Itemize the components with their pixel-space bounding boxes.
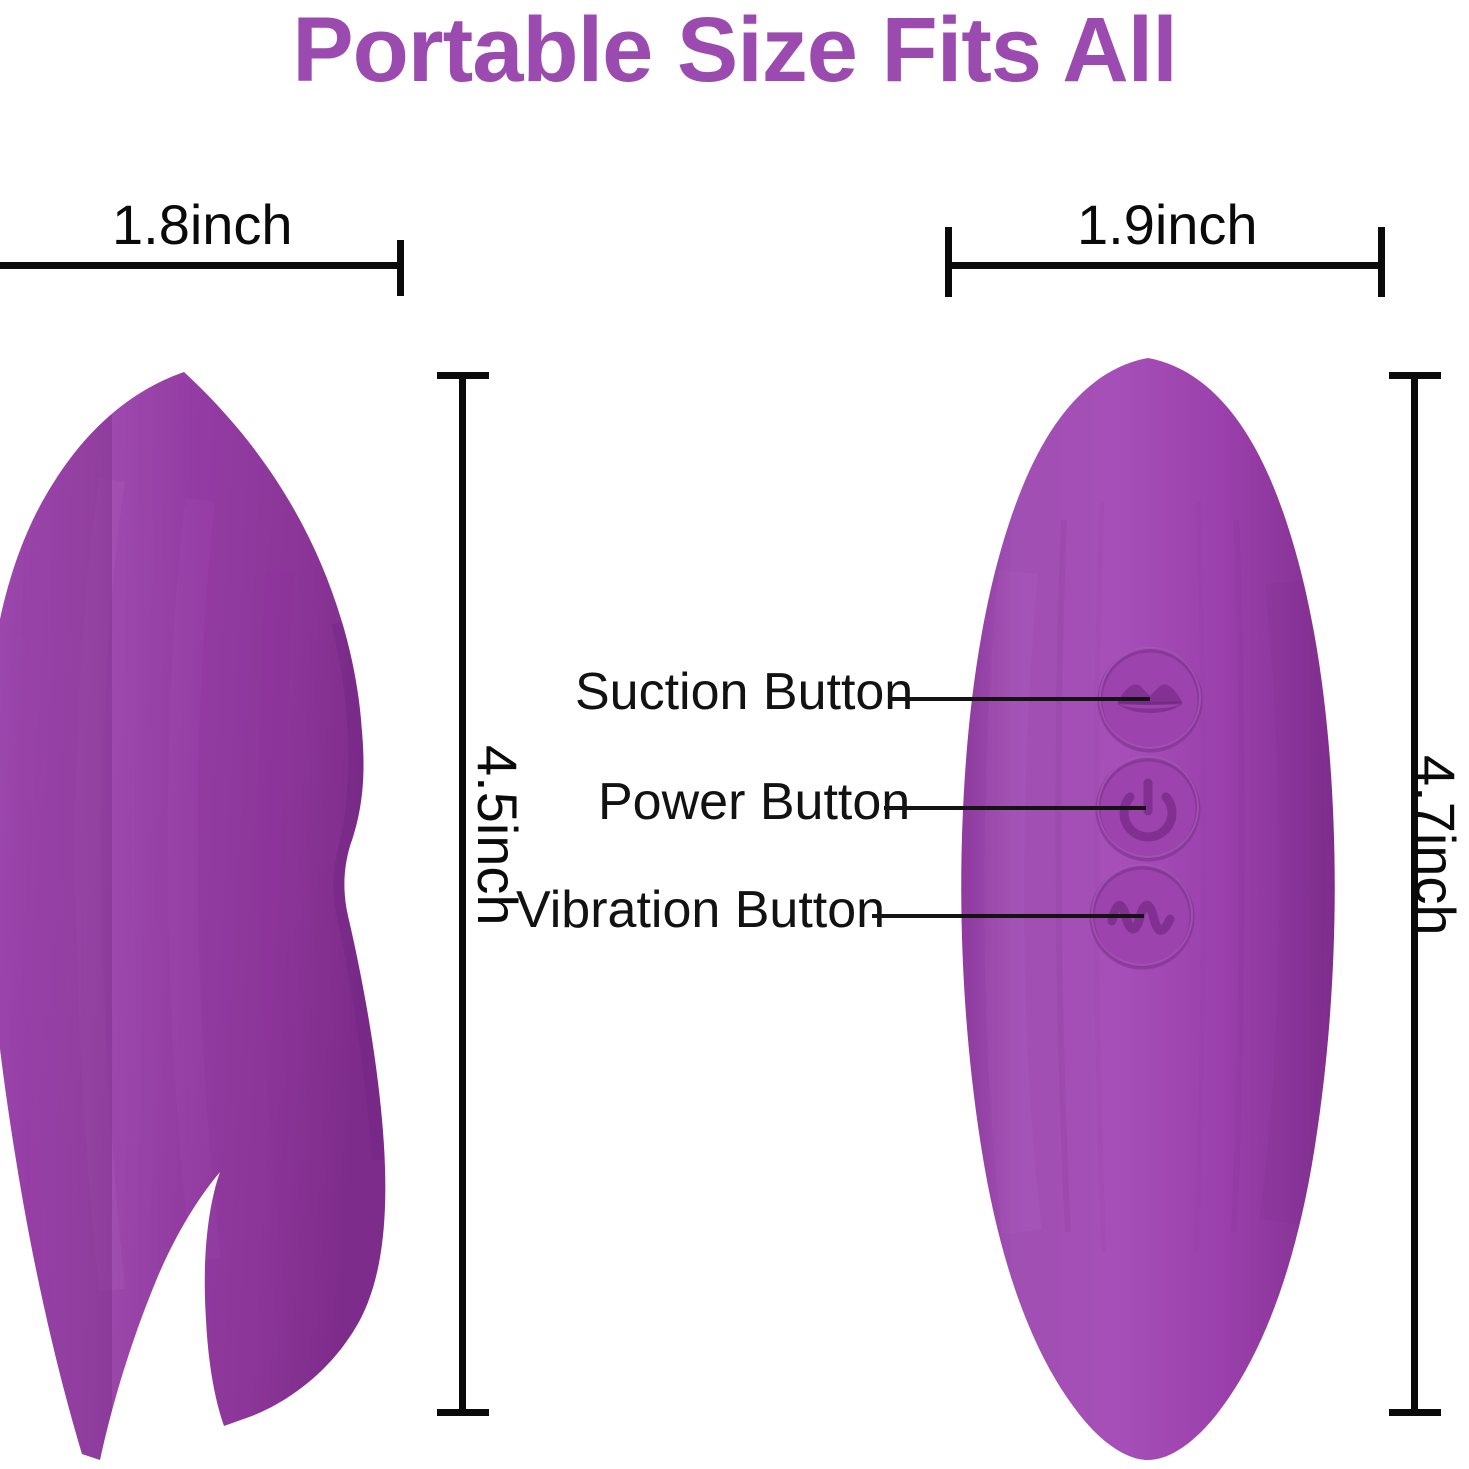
product-image-front-view xyxy=(952,352,1352,1467)
callout-label-suction-button: Suction Button xyxy=(575,662,913,722)
leader-line-vibration-button xyxy=(872,914,1144,918)
dimension-label-right-width: 1.9inch xyxy=(1077,192,1258,257)
dimension-tick-right-width-left xyxy=(945,227,952,297)
product-image-side-view xyxy=(0,360,442,1469)
leader-line-power-button xyxy=(884,806,1146,810)
callout-label-vibration-button: Vibration Button xyxy=(516,880,885,940)
product-size-diagram: Portable Size Fits All xyxy=(0,0,1469,1469)
dimension-line-left-height xyxy=(459,372,466,1416)
dimension-line-right-width xyxy=(945,262,1385,269)
dimension-tick-right-height-bottom xyxy=(1389,1409,1441,1416)
dimension-tick-left-height-bottom xyxy=(437,1409,489,1416)
dimension-tick-right-height-top xyxy=(1389,372,1441,379)
dimension-tick-left-height-top xyxy=(437,372,489,379)
dimension-label-left-width: 1.8inch xyxy=(112,192,293,257)
dimension-line-left-width xyxy=(0,262,404,269)
dimension-line-right-height xyxy=(1411,372,1418,1416)
dimension-tick-right-width-right xyxy=(1378,227,1385,297)
leader-line-suction-button xyxy=(888,697,1150,701)
page-title: Portable Size Fits All xyxy=(0,4,1469,96)
callout-label-power-button: Power Button xyxy=(598,772,910,832)
dimension-tick-left-width-right xyxy=(397,240,404,296)
